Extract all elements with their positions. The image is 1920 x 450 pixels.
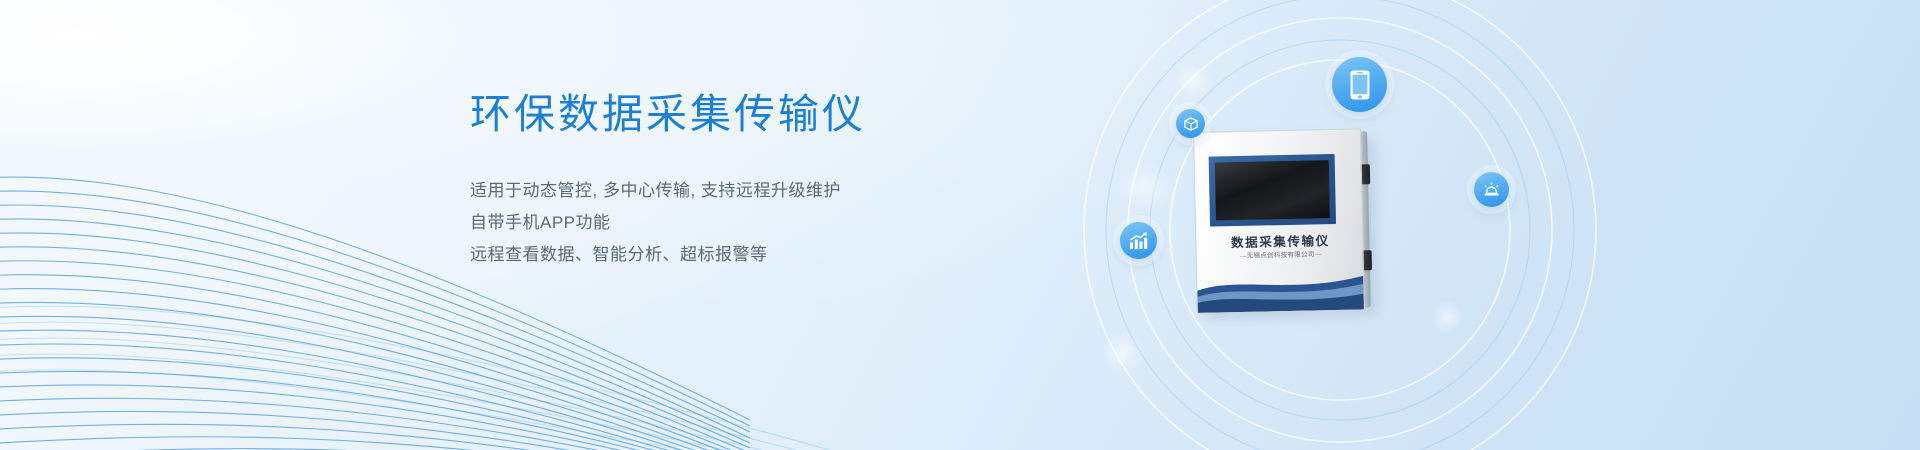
mobile-phone-icon (1350, 70, 1370, 100)
alarm-siren-icon (1483, 181, 1500, 198)
decorative-glow-blob (1430, 300, 1464, 334)
device-footer-wave (1197, 263, 1365, 313)
product-hero-banner: 环保数据采集传输仪 适用于动态管控, 多中心传输, 支持远程升级维护 自带手机A… (0, 0, 1920, 450)
decorative-glow-blob (1172, 60, 1212, 100)
feature-bubble-device[interactable] (1176, 109, 1205, 138)
decorative-glow-blob (1118, 160, 1172, 214)
subtitle-line-2: 自带手机APP功能 (470, 207, 1030, 239)
decorative-wave-lines-bottom (0, 290, 900, 450)
device-panel-company: —无锡点创科技有限公司— (1197, 247, 1365, 261)
product-device-image: 数据采集传输仪 —无锡点创科技有限公司— (1193, 128, 1377, 318)
bar-chart-growth-icon (1129, 232, 1148, 250)
device-screen-bezel (1209, 154, 1336, 227)
decorative-glow-blob (1100, 330, 1146, 376)
device-enclosure: 数据采集传输仪 —无锡点创科技有限公司— (1193, 128, 1365, 313)
feature-bubble-mobile-app[interactable] (1332, 57, 1387, 112)
banner-copy-block: 环保数据采集传输仪 适用于动态管控, 多中心传输, 支持远程升级维护 自带手机A… (470, 90, 1030, 271)
subtitle-list: 适用于动态管控, 多中心传输, 支持远程升级维护 自带手机APP功能 远程查看数… (470, 175, 1030, 271)
device-screen (1215, 160, 1330, 220)
feature-bubble-analytics[interactable] (1120, 222, 1157, 259)
page-title: 环保数据采集传输仪 (470, 90, 1030, 139)
subtitle-line-1: 适用于动态管控, 多中心传输, 支持远程升级维护 (470, 175, 1030, 207)
box-cube-icon (1184, 117, 1198, 131)
subtitle-line-3: 远程查看数据、智能分析、超标报警等 (470, 239, 1030, 271)
feature-bubble-alarm[interactable] (1474, 172, 1509, 207)
